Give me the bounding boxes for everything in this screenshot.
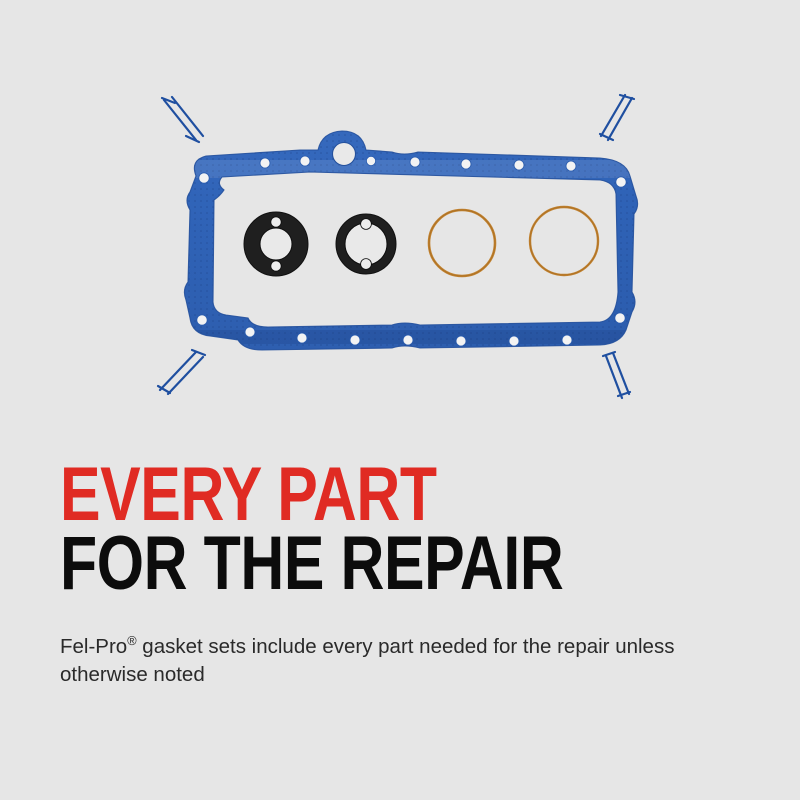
registered-trademark-mark: ® — [127, 633, 136, 648]
black-ring-gasket-small — [336, 214, 396, 274]
body-copy-brand: Fel-Pro — [60, 635, 127, 658]
headline-line-2: FOR THE REPAIR — [60, 531, 620, 596]
main-pan-rail-gasket — [0, 0, 800, 450]
promo-page: EVERY PART FOR THE REPAIR Fel-Pro® gaske… — [0, 0, 800, 800]
product-image — [0, 0, 800, 450]
body-copy: Fel-Pro® gasket sets include every part … — [60, 633, 680, 690]
headline-line-1: EVERY PART — [60, 462, 620, 527]
center-locator-hole — [333, 143, 356, 166]
black-ring-gasket-large — [244, 212, 308, 276]
body-copy-rest: gasket sets include every part needed fo… — [60, 635, 674, 686]
promo-text-block: EVERY PART FOR THE REPAIR Fel-Pro® gaske… — [60, 462, 760, 689]
